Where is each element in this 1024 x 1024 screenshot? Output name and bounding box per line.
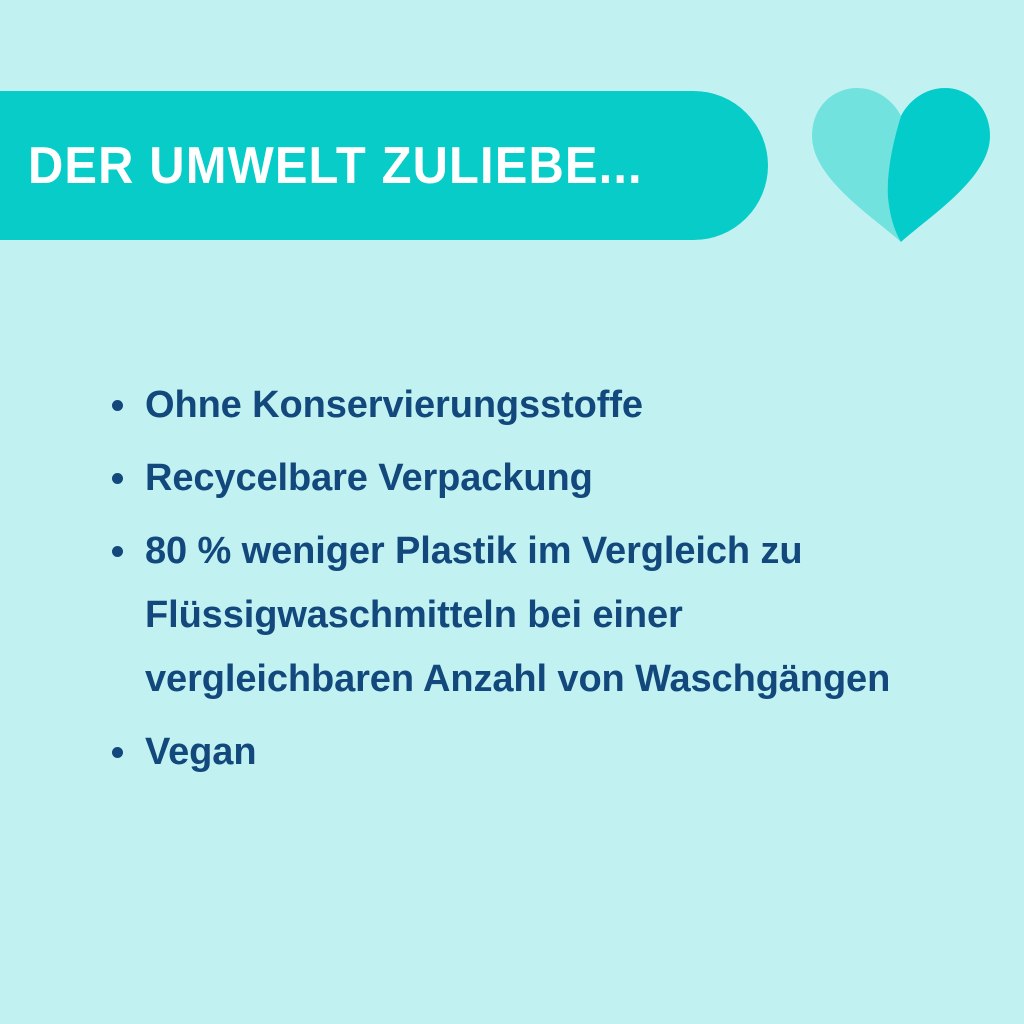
list-item-label: Recycelbare Verpackung <box>145 446 958 510</box>
benefits-list: Ohne Konservierungsstoffe Recycelbare Ve… <box>108 373 958 784</box>
bullet-point-icon <box>112 747 123 758</box>
list-item: 80 % weniger Plastik im Vergleich zu Flü… <box>108 519 958 711</box>
list-item-label: Vegan <box>145 720 958 784</box>
list-item-label: 80 % weniger Plastik im Vergleich zu Flü… <box>145 519 958 711</box>
promo-poster: DER UMWELT ZULIEBE... Ohne Konservierung… <box>0 0 1024 1024</box>
list-item-label: Ohne Konservierungsstoffe <box>145 373 958 437</box>
list-item: Vegan <box>108 720 958 784</box>
bullet-point-icon <box>112 400 123 411</box>
bullet-point-icon <box>112 473 123 484</box>
heart-icon <box>810 86 992 242</box>
header-banner: DER UMWELT ZULIEBE... <box>0 91 768 240</box>
page-title: DER UMWELT ZULIEBE... <box>28 140 643 192</box>
list-item: Ohne Konservierungsstoffe <box>108 373 958 437</box>
list-item: Recycelbare Verpackung <box>108 446 958 510</box>
bullet-point-icon <box>112 546 123 557</box>
